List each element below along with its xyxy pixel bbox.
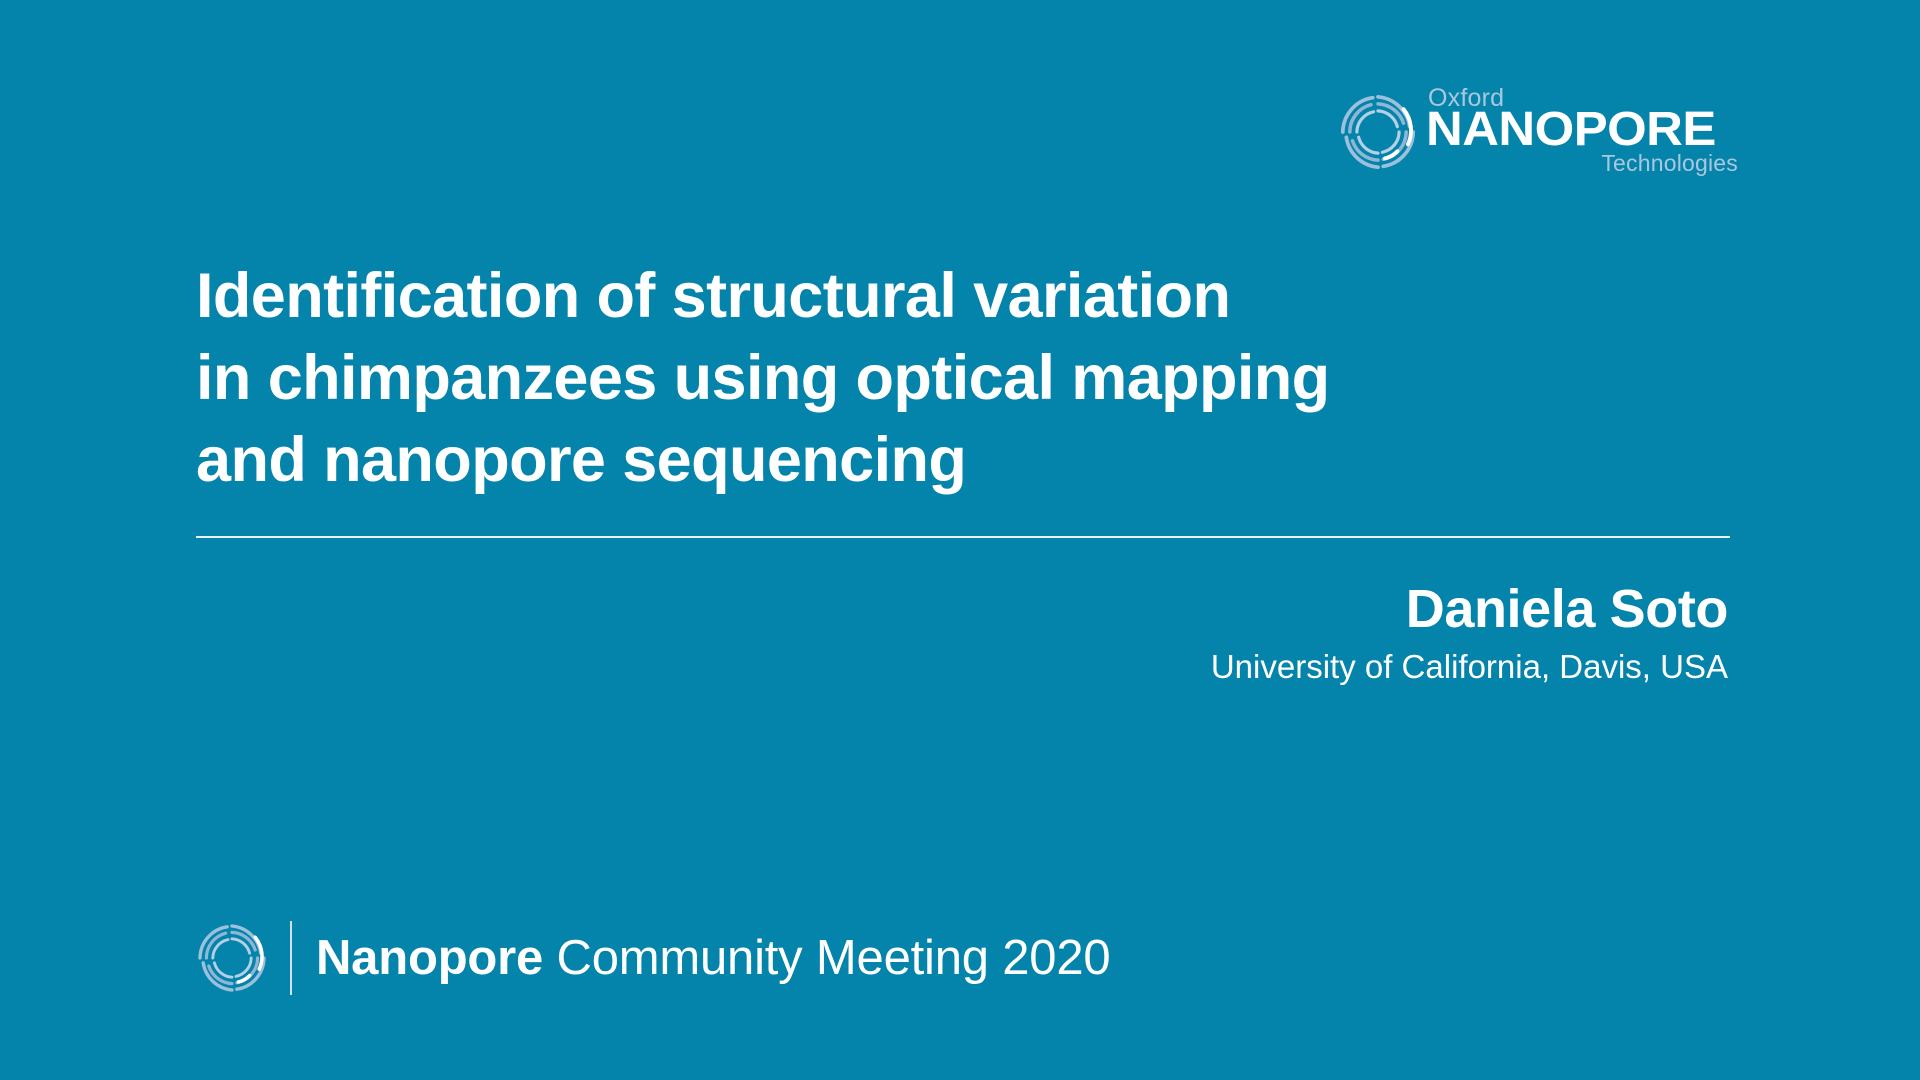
oxford-nanopore-wordmark: Oxford NANOPORE Technologies bbox=[1426, 86, 1738, 182]
footer-separator bbox=[290, 921, 292, 995]
brand-nanopore-text: NANOPORE bbox=[1426, 106, 1716, 154]
title-slide: Oxford NANOPORE Technologies Identificat… bbox=[0, 0, 1920, 1080]
brand-technologies-text: Technologies bbox=[1601, 152, 1738, 175]
slide-footer: Nanopore Community Meeting 2020 bbox=[192, 908, 1110, 1008]
presenter-name: Daniela Soto bbox=[1211, 578, 1728, 640]
title-line-1: Identification of structural variation bbox=[196, 255, 1736, 337]
title-line-2: in chimpanzees using optical mapping bbox=[196, 337, 1736, 419]
title-line-3: and nanopore sequencing bbox=[196, 419, 1736, 501]
footer-event-title: Nanopore Community Meeting 2020 bbox=[316, 930, 1110, 986]
oxford-nanopore-swirl-mark bbox=[1334, 88, 1422, 176]
presentation-title: Identification of structural variation i… bbox=[196, 255, 1736, 501]
footer-event-name: Community Meeting 2020 bbox=[543, 931, 1110, 985]
oxford-nanopore-logo: Oxford NANOPORE Technologies bbox=[1334, 86, 1740, 182]
title-divider bbox=[196, 536, 1730, 538]
presenter-block: Daniela Soto University of California, D… bbox=[1211, 578, 1728, 689]
footer-brand-word: Nanopore bbox=[316, 931, 543, 985]
nanopore-swirl-mark bbox=[192, 918, 272, 998]
presenter-affiliation: University of California, Davis, USA bbox=[1211, 645, 1728, 689]
